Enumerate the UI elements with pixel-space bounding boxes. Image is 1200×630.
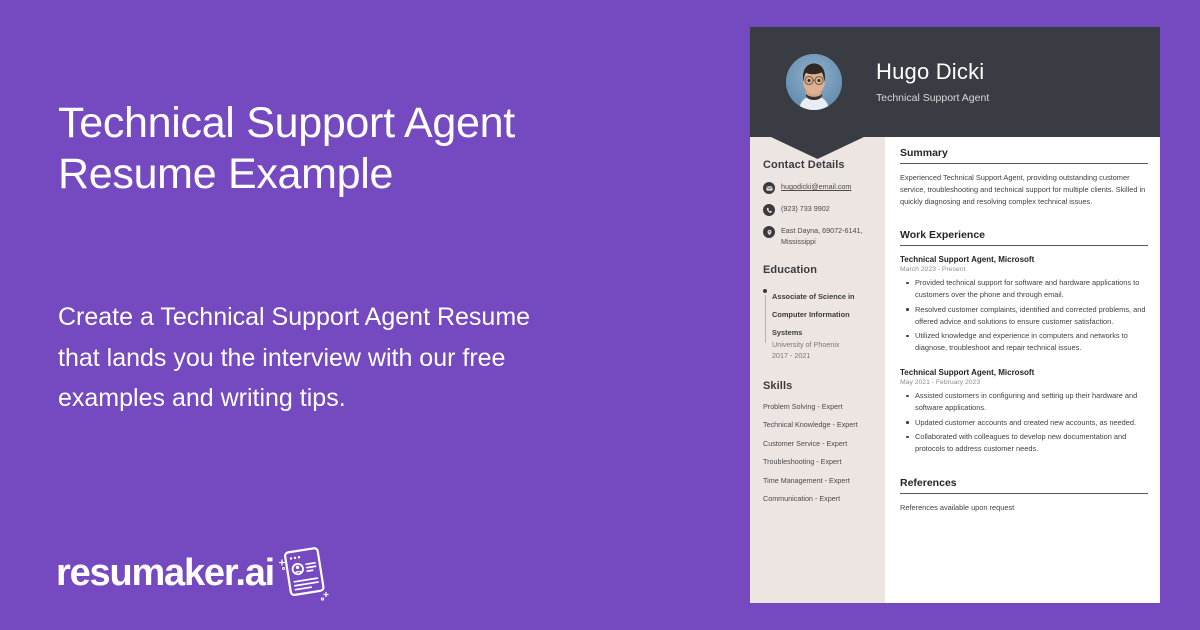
logo-wordmark: resumaker.ai <box>56 552 274 595</box>
education-item: Associate of Science in Computer Informa… <box>763 286 873 362</box>
contact-phone-value: (923) 733 9902 <box>781 203 830 214</box>
job-title: Technical Support Agent, Microsoft <box>900 367 1148 378</box>
job-bullet: Provided technical support for software … <box>900 277 1148 301</box>
work-experience-heading: Work Experience <box>900 229 1148 246</box>
main-content: Summary Experienced Technical Support Ag… <box>900 147 1148 514</box>
job-title: Technical Support Agent, Microsoft <box>900 254 1148 265</box>
contact-email-value[interactable]: hugodicki@email.com <box>781 181 851 192</box>
resumaker-logo[interactable]: resumaker.ai <box>56 544 332 602</box>
page-title: Technical Support Agent Resume Example <box>58 98 678 199</box>
envelope-icon <box>763 182 775 194</box>
skill-item: Problem Solving - Expert <box>763 402 873 411</box>
map-pin-icon <box>763 226 775 238</box>
skill-item: Customer Service - Expert <box>763 439 873 448</box>
job-entry: Technical Support Agent, Microsoft May 2… <box>900 367 1148 455</box>
job-bullet: Resolved customer complaints, identified… <box>900 304 1148 328</box>
contact-address-value: East Dayna, 69072-6141, Mississippi <box>781 225 873 247</box>
contact-details-heading: Contact Details <box>763 159 873 171</box>
education-degree: Associate of Science in Computer Informa… <box>772 292 855 337</box>
skill-item: Communication - Expert <box>763 494 873 503</box>
summary-text: Experienced Technical Support Agent, pro… <box>900 172 1148 208</box>
avatar <box>786 54 842 110</box>
references-text: References available upon request <box>900 502 1148 514</box>
promo-subtext: Create a Technical Support Agent Resume … <box>58 297 618 419</box>
skill-item: Troubleshooting - Expert <box>763 457 873 466</box>
education-school: University of Phoenix <box>772 340 873 351</box>
job-entry: Technical Support Agent, Microsoft March… <box>900 254 1148 354</box>
job-bullet: Collaborated with colleagues to develop … <box>900 431 1148 455</box>
education-dates: 2017 - 2021 <box>772 351 873 362</box>
resume-document-icon <box>278 544 332 602</box>
promo-panel: Technical Support Agent Resume Example C… <box>0 0 750 630</box>
skill-item: Time Management - Expert <box>763 476 873 485</box>
skills-heading: Skills <box>763 380 873 392</box>
references-heading: References <box>900 477 1148 494</box>
job-bullet: Utilized knowledge and experience in com… <box>900 330 1148 354</box>
resume-header: Hugo Dicki Technical Support Agent <box>750 27 1160 137</box>
education-heading: Education <box>763 264 873 276</box>
contact-email[interactable]: hugodicki@email.com <box>763 181 873 194</box>
sidebar-content: Contact Details hugodicki@email.com (923… <box>750 159 885 513</box>
resume-name: Hugo Dicki <box>876 60 989 84</box>
skill-item: Technical Knowledge - Expert <box>763 420 873 429</box>
job-dates: March 2023 - Present <box>900 266 1148 273</box>
education-bullet-icon <box>763 286 767 343</box>
contact-phone: (923) 733 9902 <box>763 203 873 216</box>
summary-heading: Summary <box>900 147 1148 164</box>
job-bullet: Updated customer accounts and created ne… <box>900 417 1148 429</box>
job-bullet: Assisted customers in configuring and se… <box>900 390 1148 414</box>
skills-section: Skills Problem Solving - Expert Technica… <box>763 380 873 504</box>
resume-role: Technical Support Agent <box>876 92 989 104</box>
contact-address: East Dayna, 69072-6141, Mississippi <box>763 225 873 247</box>
phone-icon <box>763 204 775 216</box>
education-section: Education Associate of Science in Comput… <box>763 264 873 362</box>
resume-preview-card[interactable]: Hugo Dicki Technical Support Agent Conta… <box>750 27 1160 603</box>
job-dates: May 2021 - February 2023 <box>900 379 1148 386</box>
